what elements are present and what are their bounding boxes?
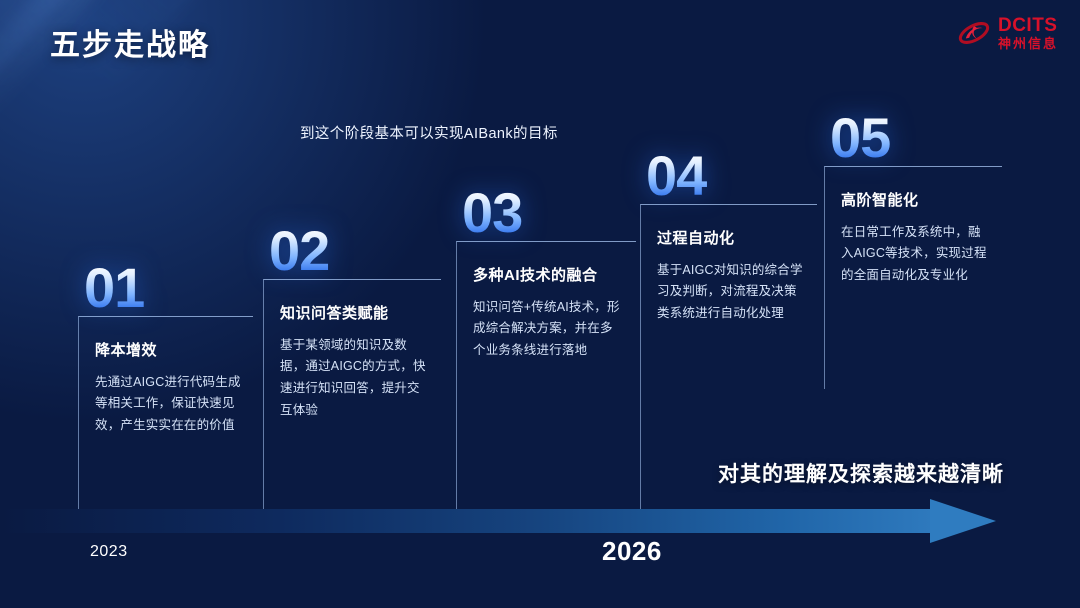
- tagline: 对其的理解及探索越来越清晰: [718, 458, 1004, 488]
- slide-root: 五步走战略 DCITS 神州信息 到这个阶段基本可以实现AIBank的目标 01…: [0, 0, 1080, 608]
- logo-cn-label: 神州信息: [998, 37, 1058, 50]
- step-number-01: 01: [84, 262, 253, 314]
- step-card-02[interactable]: 02 知识问答类赋能 基于某领域的知识及数据，通过AIGC的方式，快速进行知识回…: [263, 225, 441, 510]
- timeline-start-year: 2023: [90, 543, 128, 561]
- step-text-04: 基于AIGC对知识的综合学习及判断，对流程及决策类系统进行自动化处理: [657, 260, 805, 326]
- timeline-end-year: 2026: [602, 536, 662, 567]
- dcits-swirl-icon: [957, 16, 991, 50]
- step-card-05[interactable]: 05 高阶智能化 在日常工作及系统中，融入AIGC等技术，实现过程的全面自动化及…: [824, 112, 1002, 389]
- stage-annotation: 到这个阶段基本可以实现AIBank的目标: [300, 122, 558, 143]
- step-card-03[interactable]: 03 多种AI技术的融合 知识问答+传统AI技术，形成综合解决方案，并在多个业务…: [456, 187, 636, 509]
- step-text-03: 知识问答+传统AI技术，形成综合解决方案，并在多个业务条线进行落地: [473, 297, 624, 363]
- step-heading-03: 多种AI技术的融合: [473, 264, 624, 285]
- right-arrow-icon: [930, 499, 996, 543]
- step-card-04[interactable]: 04 过程自动化 基于AIGC对知识的综合学习及判断，对流程及决策类系统进行自动…: [640, 150, 817, 510]
- step-text-02: 基于某领域的知识及数据，通过AIGC的方式，快速进行知识回答，提升交互体验: [280, 335, 429, 423]
- streak-1: [0, 0, 49, 559]
- brand-logo: DCITS 神州信息: [957, 16, 1058, 50]
- logo-en-label: DCITS: [998, 16, 1058, 35]
- step-heading-02: 知识问答类赋能: [280, 302, 429, 323]
- step-number-03: 03: [462, 187, 636, 239]
- logo-text: DCITS 神州信息: [998, 16, 1058, 50]
- step-number-02: 02: [269, 225, 441, 277]
- step-heading-05: 高阶智能化: [841, 189, 990, 210]
- step-body-02: 知识问答类赋能 基于某领域的知识及数据，通过AIGC的方式，快速进行知识回答，提…: [263, 279, 441, 510]
- step-card-01[interactable]: 01 降本增效 先通过AIGC进行代码生成等相关工作，保证快速见效，产生实实在在…: [78, 262, 253, 509]
- step-number-04: 04: [646, 150, 817, 202]
- step-text-01: 先通过AIGC进行代码生成等相关工作，保证快速见效，产生实实在在的价值: [95, 372, 241, 438]
- step-body-03: 多种AI技术的融合 知识问答+传统AI技术，形成综合解决方案，并在多个业务条线进…: [456, 241, 636, 509]
- step-body-01: 降本增效 先通过AIGC进行代码生成等相关工作，保证快速见效，产生实实在在的价值: [78, 316, 253, 509]
- step-body-05: 高阶智能化 在日常工作及系统中，融入AIGC等技术，实现过程的全面自动化及专业化: [824, 166, 1002, 389]
- page-title: 五步走战略: [50, 20, 210, 64]
- step-heading-04: 过程自动化: [657, 227, 805, 248]
- timeline-bar: [0, 509, 930, 533]
- step-number-05: 05: [830, 112, 1002, 164]
- step-heading-01: 降本增效: [95, 339, 241, 360]
- step-text-05: 在日常工作及系统中，融入AIGC等技术，实现过程的全面自动化及专业化: [841, 222, 990, 288]
